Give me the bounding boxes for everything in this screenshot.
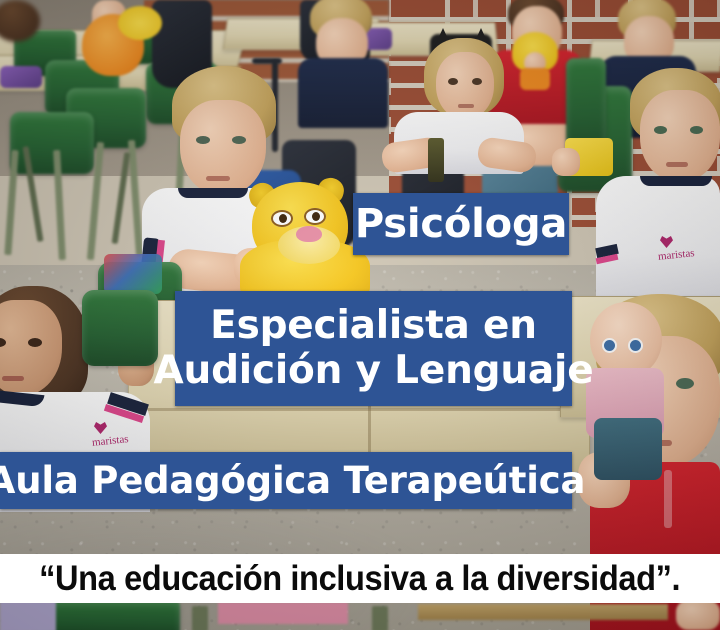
table-seam-horizontal	[128, 408, 588, 411]
simba-boy-eye-left	[196, 136, 210, 144]
bottom-arm	[676, 600, 720, 630]
blond-boy-eye-left	[654, 126, 667, 134]
bottom-chair-green	[50, 600, 180, 630]
banner-psicologa-text: Psicóloga	[355, 201, 567, 247]
cat-ears-girl-eye-right	[472, 78, 482, 85]
bottom-table-leg	[192, 606, 208, 630]
baby-doll-pants	[594, 418, 662, 480]
dark-hair-girl-eye-right	[28, 338, 42, 347]
baby-doll-eye-left	[604, 340, 615, 351]
blond-boy-eye-right	[690, 126, 703, 134]
bottom-table-leg-2	[372, 606, 388, 630]
simba-nose	[296, 226, 322, 242]
cat-ears-girl-face	[436, 52, 494, 120]
image-canvas: maristas	[0, 0, 720, 630]
right-boy-hand	[552, 148, 580, 176]
simba-pupil-left	[279, 214, 287, 223]
cat-ears-girl-object	[428, 138, 444, 182]
caption-band: “Una educación inclusiva a la diversidad…	[0, 554, 720, 603]
simba-boy-face	[180, 100, 266, 196]
background-boy-shirt	[298, 58, 388, 128]
yellow-toy-accent	[118, 6, 162, 40]
simba-pupil-right	[312, 212, 320, 221]
yellow-doll-body	[520, 68, 550, 90]
pencil-case-patterned	[104, 254, 162, 294]
cat-ears-girl-mouth	[458, 104, 474, 108]
banner-aula-text: Aula Pedagógica Terapeútica	[0, 459, 585, 502]
baby-doll-eye-right	[630, 340, 641, 351]
chair-behind-girl	[82, 290, 158, 366]
trolley-handle-bar	[252, 58, 282, 64]
banner-aula-pedagogica-terapeutica: Aula Pedagógica Terapeútica	[0, 452, 572, 509]
banner-psicologa: Psicóloga	[353, 193, 569, 255]
simba-boy-mouth	[206, 176, 230, 181]
blond-boy-shirt	[596, 176, 720, 306]
pencil-case-purple-2	[0, 66, 42, 88]
simba-boy-eye-right	[232, 136, 246, 144]
cat-ears-girl-eye-left	[448, 78, 458, 85]
blond-boy-collar-trim	[640, 176, 712, 186]
banner-especialista-line-2: Audición y Lenguaje	[154, 349, 594, 393]
dark-hair-girl-mouth	[2, 376, 24, 381]
bottom-pink-fabric	[218, 602, 348, 624]
background-chair-7	[10, 112, 94, 174]
simba-boy-collar-trim	[178, 188, 248, 198]
baby-doll-head	[590, 302, 662, 378]
bottom-table-edge	[418, 604, 668, 620]
red-polo-placket	[664, 470, 672, 528]
banner-especialista-line-1: Especialista en	[210, 304, 537, 348]
caption-text: “Una educación inclusiva a la diversidad…	[39, 559, 680, 599]
red-polo-boy-eye-right	[676, 378, 694, 389]
blond-boy-mouth	[666, 162, 688, 167]
banner-especialista-audicion-lenguaje: Especialista en Audición y Lenguaje	[175, 291, 572, 406]
blond-boy-face	[640, 90, 720, 182]
